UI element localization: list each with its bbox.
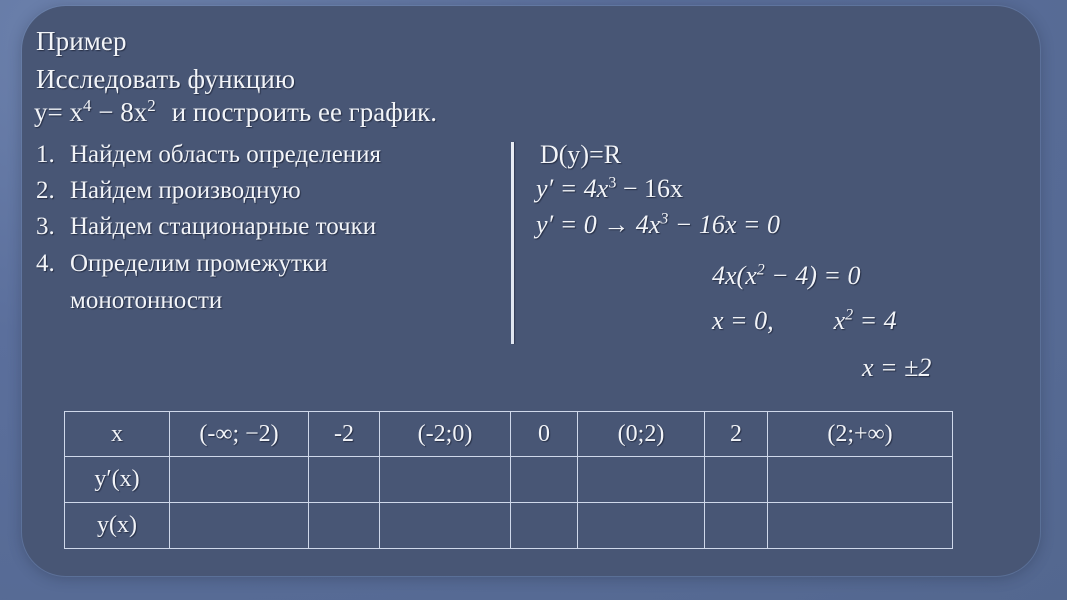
step-item-3: 3.Найдем стационарные точки: [36, 214, 376, 239]
slide-title: Пример: [36, 28, 127, 55]
step-number-3: 3.: [36, 214, 70, 239]
equation-rhs-a: 4x: [636, 210, 661, 239]
function-middle: − 8x: [91, 97, 147, 127]
step-number-1: 1.: [36, 142, 70, 167]
function-exponent-2: 2: [147, 96, 156, 115]
derivative-lhs: y′ = 4x: [536, 174, 608, 203]
table-header-cell-interval-1: (-∞; −2): [170, 412, 309, 457]
factored-equation: 4x(x2 − 4) = 0: [712, 263, 861, 289]
roots-line: x = 0,x2 = 4: [712, 308, 897, 334]
root-zero: x = 0,: [712, 306, 774, 335]
step-label-4-continuation: монотонности: [70, 288, 222, 313]
step-number-2: 2.: [36, 178, 70, 203]
table-cell[interactable]: [705, 457, 768, 503]
table-cell[interactable]: [170, 457, 309, 503]
table-header-cell-interval-4: (2;+∞): [768, 412, 953, 457]
root-squared-a: x: [834, 306, 846, 335]
row-label-function: y(x): [65, 503, 170, 549]
table-cell[interactable]: [380, 457, 511, 503]
table-row: y′(x): [65, 457, 953, 503]
root-squared-exponent: 2: [845, 306, 853, 323]
slide-body: Пример Исследовать функцию y= x4 − 8x2и …: [0, 0, 1067, 600]
column-divider: [511, 142, 514, 344]
factored-exponent: 2: [757, 261, 765, 278]
derivative-expression: y′ = 4x3 − 16x: [536, 176, 683, 202]
sign-analysis-table: x (-∞; −2) -2 (-2;0) 0 (0;2) 2 (2;+∞) y′…: [64, 411, 953, 549]
table-cell[interactable]: [578, 503, 705, 549]
step-label-4: Определим промежутки: [70, 250, 327, 277]
table-header-cell-x: x: [65, 412, 170, 457]
table-header-cell-interval-3: (0;2): [578, 412, 705, 457]
arrow-icon: →: [603, 210, 629, 239]
table-cell[interactable]: [309, 503, 380, 549]
table-cell[interactable]: [705, 503, 768, 549]
equation-rhs-b: − 16x = 0: [668, 210, 780, 239]
step-label-3: Найдем стационарные точки: [70, 213, 376, 240]
function-prefix: y= x: [34, 97, 83, 127]
table-header-cell-point-2: 0: [511, 412, 578, 457]
step-item-1: 1.Найдем область определения: [36, 142, 381, 167]
step-label-2: Найдем производную: [70, 177, 301, 204]
table-header-cell-point-3: 2: [705, 412, 768, 457]
table-cell[interactable]: [380, 503, 511, 549]
table-cell[interactable]: [768, 503, 953, 549]
roots-final: x = ±2: [862, 355, 931, 381]
table-cell[interactable]: [170, 503, 309, 549]
table-cell[interactable]: [768, 457, 953, 503]
stationary-equation: y′ = 0 → 4x3 − 16x = 0: [536, 212, 780, 238]
step-item-4: 4.Определим промежутки: [36, 251, 327, 276]
row-label-derivative: y′(x): [65, 457, 170, 503]
domain-expression: D(y)=R: [540, 142, 621, 168]
table-row: y(x): [65, 503, 953, 549]
table-header-cell-interval-2: (-2;0): [380, 412, 511, 457]
step-label-1: Найдем область определения: [70, 141, 381, 168]
factored-rhs: − 4) = 0: [765, 261, 861, 290]
table-cell[interactable]: [578, 457, 705, 503]
table-cell[interactable]: [309, 457, 380, 503]
task-instruction: Исследовать функцию: [36, 66, 295, 93]
factored-lhs: 4x(x: [712, 261, 757, 290]
slide: Пример Исследовать функцию y= x4 − 8x2и …: [0, 0, 1067, 600]
derivative-rhs: − 16x: [616, 174, 683, 203]
step-item-2: 2.Найдем производную: [36, 178, 301, 203]
table-cell[interactable]: [511, 457, 578, 503]
table-header-row: x (-∞; −2) -2 (-2;0) 0 (0;2) 2 (2;+∞): [65, 412, 953, 457]
table-cell[interactable]: [511, 503, 578, 549]
root-squared-b: = 4: [853, 306, 897, 335]
table-header-cell-point-1: -2: [309, 412, 380, 457]
step-number-4: 4.: [36, 251, 70, 276]
equation-lhs: y′ = 0: [536, 210, 597, 239]
function-definition: y= x4 − 8x2и построить ее график.: [34, 99, 437, 126]
function-suffix: и построить ее график.: [172, 97, 437, 127]
